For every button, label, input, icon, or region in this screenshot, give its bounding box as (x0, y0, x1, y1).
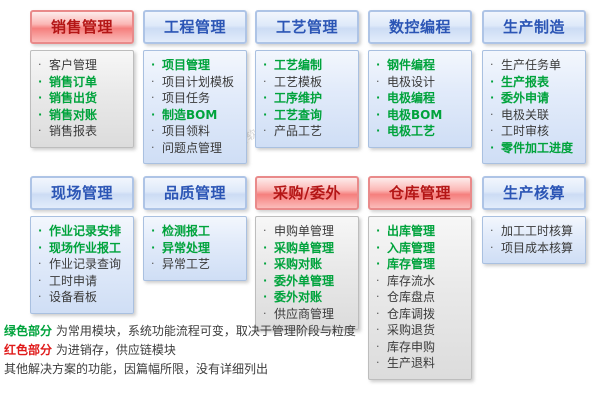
module-header-process-management[interactable]: 工艺管理 (255, 10, 359, 44)
module-item[interactable]: ·制造BOM (148, 107, 244, 124)
bullet-icon: · (38, 74, 42, 91)
module-header-production-manufacturing[interactable]: 生产制造 (482, 10, 586, 44)
module-sales-management: 销售管理·客户管理·销售订单·销售出货·销售对账·销售报表 (30, 10, 134, 148)
module-item[interactable]: ·电极关联 (487, 107, 583, 124)
module-item-label: 产品工艺 (274, 124, 322, 138)
bullet-icon: · (376, 322, 380, 339)
module-item-label: 客户管理 (49, 58, 97, 72)
module-item-label: 申购单管理 (274, 224, 334, 238)
bullet-icon: · (151, 123, 155, 140)
module-map-canvas: 云易云软件 销售管理·客户管理·销售订单·销售出货·销售对账·销售报表工程管理·… (0, 0, 600, 400)
module-item[interactable]: ·项目任务 (148, 90, 244, 107)
bullet-icon: · (490, 123, 494, 140)
bullet-icon: · (376, 57, 380, 74)
module-body-sales-management: ·客户管理·销售订单·销售出货·销售对账·销售报表 (30, 50, 134, 148)
module-item[interactable]: ·委外单管理 (260, 273, 356, 290)
bullet-icon: · (38, 107, 42, 124)
legend-line: 红色部分 为进销存，供应链模块 (4, 341, 374, 360)
bullet-icon: · (376, 306, 380, 323)
module-item-label: 项目成本核算 (501, 241, 573, 255)
bullet-icon: · (151, 74, 155, 91)
module-item[interactable]: ·库存流水 (373, 273, 469, 290)
module-item[interactable]: ·销售报表 (35, 123, 131, 140)
module-item[interactable]: ·作业记录安排 (35, 223, 131, 240)
bullet-icon: · (376, 289, 380, 306)
module-item-label: 检测报工 (162, 224, 210, 238)
bullet-icon: · (38, 289, 42, 306)
module-item[interactable]: ·工序维护 (260, 90, 356, 107)
bullet-icon: · (376, 355, 380, 372)
module-item-label: 项目计划模板 (162, 75, 234, 89)
bullet-icon: · (263, 289, 267, 306)
module-item[interactable]: ·检测报工 (148, 223, 244, 240)
bullet-icon: · (151, 57, 155, 74)
module-item[interactable]: ·委外申请 (487, 90, 583, 107)
module-item[interactable]: ·工艺编制 (260, 57, 356, 74)
bullet-icon: · (376, 339, 380, 356)
module-item-label: 作业记录安排 (49, 224, 121, 238)
module-item[interactable]: ·电极设计 (373, 74, 469, 91)
module-body-production-manufacturing: ·生产任务单·生产报表·委外申请·电极关联·工时审核·零件加工进度 (482, 50, 586, 164)
module-item-label: 电极设计 (387, 75, 435, 89)
module-item-label: 供应商管理 (274, 307, 334, 321)
module-item[interactable]: ·加工工时核算 (487, 223, 583, 240)
module-item-list: ·钢件编程·电极设计·电极编程·电极BOM·电极工艺 (373, 57, 469, 140)
module-item-label: 电极工艺 (387, 124, 435, 138)
bullet-icon: · (263, 74, 267, 91)
module-item-label: 工艺编制 (274, 58, 322, 72)
module-item[interactable]: ·生产任务单 (487, 57, 583, 74)
module-item[interactable]: ·库存申购 (373, 339, 469, 356)
module-item-label: 问题点管理 (162, 141, 222, 155)
bullet-icon: · (151, 256, 155, 273)
module-item-label: 异常处理 (162, 241, 210, 255)
module-item[interactable]: ·钢件编程 (373, 57, 469, 74)
module-item[interactable]: ·工时审核 (487, 123, 583, 140)
module-item-label: 销售对账 (49, 108, 97, 122)
module-item-label: 销售订单 (49, 75, 97, 89)
module-item-label: 库存申购 (387, 340, 435, 354)
bullet-icon: · (263, 223, 267, 240)
module-item-label: 出库管理 (387, 224, 435, 238)
module-item[interactable]: ·供应商管理 (260, 306, 356, 323)
module-item[interactable]: ·采购对账 (260, 256, 356, 273)
module-header-engineering-management[interactable]: 工程管理 (143, 10, 247, 44)
bullet-icon: · (490, 240, 494, 257)
module-body-quality-management: ·检测报工·异常处理·异常工艺 (143, 216, 247, 281)
module-item[interactable]: ·现场作业报工 (35, 240, 131, 257)
legend-text: 其他解决方案的功能，因篇幅所限，没有详细列出 (4, 362, 268, 376)
bullet-icon: · (490, 90, 494, 107)
bullet-icon: · (376, 123, 380, 140)
bullet-icon: · (151, 140, 155, 157)
module-body-engineering-management: ·项目管理·项目计划模板·项目任务·制造BOM·项目领料·问题点管理 (143, 50, 247, 164)
bullet-icon: · (376, 107, 380, 124)
module-item-label: 工序维护 (274, 91, 322, 105)
bullet-icon: · (376, 273, 380, 290)
module-body-cnc-programming: ·钢件编程·电极设计·电极编程·电极BOM·电极工艺 (368, 50, 472, 148)
module-item-label: 入库管理 (387, 241, 435, 255)
module-shopfloor-management: 现场管理·作业记录安排·现场作业报工·作业记录查询·工时申请·设备看板 (30, 176, 134, 314)
module-item[interactable]: ·电极编程 (373, 90, 469, 107)
module-item[interactable]: ·电极工艺 (373, 123, 469, 140)
module-item[interactable]: ·仓库调拨 (373, 306, 469, 323)
module-item[interactable]: ·销售对账 (35, 107, 131, 124)
module-item[interactable]: ·工艺模板 (260, 74, 356, 91)
legend-tag-red: 红色部分 (4, 343, 52, 357)
module-header-sales-management[interactable]: 销售管理 (30, 10, 134, 44)
module-purchasing-outsourcing: 采购/委外·申购单管理·采购单管理·采购对账·委外单管理·委外对账·供应商管理 (255, 176, 359, 330)
module-production-manufacturing: 生产制造·生产任务单·生产报表·委外申请·电极关联·工时审核·零件加工进度 (482, 10, 586, 164)
bullet-icon: · (376, 90, 380, 107)
bullet-icon: · (38, 123, 42, 140)
module-body-production-accounting: ·加工工时核算·项目成本核算 (482, 216, 586, 264)
module-item[interactable]: ·作业记录查询 (35, 256, 131, 273)
bullet-icon: · (376, 240, 380, 257)
module-item-label: 零件加工进度 (501, 141, 573, 155)
module-item[interactable]: ·异常工艺 (148, 256, 244, 273)
legend-text: 为常用模块，系统功能流程可变，取决于管理阶段与粒度 (56, 324, 356, 338)
module-item[interactable]: ·工艺查询 (260, 107, 356, 124)
module-item-list: ·出库管理·入库管理·库存管理·库存流水·仓库盘点·仓库调拨·采购退货·库存申购… (373, 223, 469, 372)
bullet-icon: · (490, 57, 494, 74)
module-item-label: 钢件编程 (387, 58, 435, 72)
module-item-label: 采购退货 (387, 323, 435, 337)
module-item-label: 电极编程 (387, 91, 435, 105)
module-item-label: 制造BOM (162, 108, 217, 122)
module-item[interactable]: ·项目成本核算 (487, 240, 583, 257)
bullet-icon: · (38, 57, 42, 74)
module-item-label: 作业记录查询 (49, 257, 121, 271)
bullet-icon: · (38, 223, 42, 240)
module-item[interactable]: ·销售订单 (35, 74, 131, 91)
module-header-warehouse-management[interactable]: 仓库管理 (368, 176, 472, 210)
module-item-list: ·客户管理·销售订单·销售出货·销售对账·销售报表 (35, 57, 131, 140)
bullet-icon: · (490, 223, 494, 240)
module-item[interactable]: ·入库管理 (373, 240, 469, 257)
module-item-label: 生产报表 (501, 75, 549, 89)
module-item[interactable]: ·项目计划模板 (148, 74, 244, 91)
bullet-icon: · (490, 107, 494, 124)
bullet-icon: · (263, 90, 267, 107)
module-item[interactable]: ·采购单管理 (260, 240, 356, 257)
bullet-icon: · (151, 107, 155, 124)
bullet-icon: · (151, 240, 155, 257)
module-item-label: 仓库调拨 (387, 307, 435, 321)
module-item-label: 库存流水 (387, 274, 435, 288)
module-item-label: 异常工艺 (162, 257, 210, 271)
module-item-label: 生产退料 (387, 356, 435, 370)
bullet-icon: · (151, 223, 155, 240)
bullet-icon: · (263, 273, 267, 290)
module-item-label: 电极关联 (501, 108, 549, 122)
bullet-icon: · (376, 256, 380, 273)
module-item-label: 设备看板 (49, 290, 97, 304)
module-item-label: 仓库盘点 (387, 290, 435, 304)
bullet-icon: · (38, 256, 42, 273)
module-item-list: ·申购单管理·采购单管理·采购对账·委外单管理·委外对账·供应商管理 (260, 223, 356, 322)
module-item[interactable]: ·客户管理 (35, 57, 131, 74)
module-item[interactable]: ·问题点管理 (148, 140, 244, 157)
module-body-shopfloor-management: ·作业记录安排·现场作业报工·作业记录查询·工时申请·设备看板 (30, 216, 134, 314)
module-item-label: 库存管理 (387, 257, 435, 271)
bullet-icon: · (490, 140, 494, 157)
module-item-list: ·检测报工·异常处理·异常工艺 (148, 223, 244, 273)
module-engineering-management: 工程管理·项目管理·项目计划模板·项目任务·制造BOM·项目领料·问题点管理 (143, 10, 247, 164)
module-item[interactable]: ·采购退货 (373, 322, 469, 339)
bullet-icon: · (376, 74, 380, 91)
module-item-label: 工艺查询 (274, 108, 322, 122)
bullet-icon: · (376, 223, 380, 240)
module-header-shopfloor-management[interactable]: 现场管理 (30, 176, 134, 210)
legend: 绿色部分 为常用模块，系统功能流程可变，取决于管理阶段与粒度 红色部分 为进销存… (4, 322, 374, 379)
module-header-production-accounting[interactable]: 生产核算 (482, 176, 586, 210)
module-item[interactable]: ·产品工艺 (260, 123, 356, 140)
module-header-quality-management[interactable]: 品质管理 (143, 176, 247, 210)
bullet-icon: · (263, 240, 267, 257)
module-item-label: 生产任务单 (501, 58, 561, 72)
module-item-label: 现场作业报工 (49, 241, 121, 255)
module-item[interactable]: ·销售出货 (35, 90, 131, 107)
module-item[interactable]: ·异常处理 (148, 240, 244, 257)
bullet-icon: · (263, 256, 267, 273)
module-item-list: ·加工工时核算·项目成本核算 (487, 223, 583, 256)
module-process-management: 工艺管理·工艺编制·工艺模板·工序维护·工艺查询·产品工艺 (255, 10, 359, 148)
module-warehouse-management: 仓库管理·出库管理·入库管理·库存管理·库存流水·仓库盘点·仓库调拨·采购退货·… (368, 176, 472, 380)
legend-text: 为进销存，供应链模块 (56, 343, 176, 357)
module-body-process-management: ·工艺编制·工艺模板·工序维护·工艺查询·产品工艺 (255, 50, 359, 148)
bullet-icon: · (490, 74, 494, 91)
module-item[interactable]: ·生产报表 (487, 74, 583, 91)
bullet-icon: · (38, 90, 42, 107)
module-item[interactable]: ·项目领料 (148, 123, 244, 140)
module-item[interactable]: ·仓库盘点 (373, 289, 469, 306)
module-item-label: 工艺模板 (274, 75, 322, 89)
module-header-purchasing-outsourcing[interactable]: 采购/委外 (255, 176, 359, 210)
bullet-icon: · (263, 123, 267, 140)
bullet-icon: · (263, 57, 267, 74)
module-item-label: 项目领料 (162, 124, 210, 138)
module-item[interactable]: ·零件加工进度 (487, 140, 583, 157)
module-production-accounting: 生产核算·加工工时核算·项目成本核算 (482, 176, 586, 264)
bullet-icon: · (263, 107, 267, 124)
module-item-label: 采购单管理 (274, 241, 334, 255)
bullet-icon: · (38, 273, 42, 290)
legend-tag-green: 绿色部分 (4, 324, 52, 338)
legend-line: 绿色部分 为常用模块，系统功能流程可变，取决于管理阶段与粒度 (4, 322, 374, 341)
module-item[interactable]: ·设备看板 (35, 289, 131, 306)
module-item-label: 采购对账 (274, 257, 322, 271)
module-item-list: ·作业记录安排·现场作业报工·作业记录查询·工时申请·设备看板 (35, 223, 131, 306)
bullet-icon: · (263, 306, 267, 323)
module-item-label: 销售报表 (49, 124, 97, 138)
module-header-cnc-programming[interactable]: 数控编程 (368, 10, 472, 44)
module-item-list: ·项目管理·项目计划模板·项目任务·制造BOM·项目领料·问题点管理 (148, 57, 244, 156)
bullet-icon: · (151, 90, 155, 107)
legend-line: 其他解决方案的功能，因篇幅所限，没有详细列出 (4, 360, 374, 379)
module-item[interactable]: ·项目管理 (148, 57, 244, 74)
module-item-label: 工时审核 (501, 124, 549, 138)
module-item[interactable]: ·申购单管理 (260, 223, 356, 240)
module-item-label: 委外申请 (501, 91, 549, 105)
bullet-icon: · (38, 240, 42, 257)
module-item-label: 委外单管理 (274, 274, 334, 288)
module-item-label: 项目任务 (162, 91, 210, 105)
module-item[interactable]: ·工时申请 (35, 273, 131, 290)
module-item[interactable]: ·出库管理 (373, 223, 469, 240)
module-item-label: 工时申请 (49, 274, 97, 288)
module-item-label: 销售出货 (49, 91, 97, 105)
module-item-label: 项目管理 (162, 58, 210, 72)
module-item[interactable]: ·电极BOM (373, 107, 469, 124)
module-item[interactable]: ·生产退料 (373, 355, 469, 372)
module-item-label: 加工工时核算 (501, 224, 573, 238)
module-item[interactable]: ·库存管理 (373, 256, 469, 273)
module-quality-management: 品质管理·检测报工·异常处理·异常工艺 (143, 176, 247, 281)
module-item-label: 委外对账 (274, 290, 322, 304)
module-cnc-programming: 数控编程·钢件编程·电极设计·电极编程·电极BOM·电极工艺 (368, 10, 472, 148)
module-item-list: ·生产任务单·生产报表·委外申请·电极关联·工时审核·零件加工进度 (487, 57, 583, 156)
module-item-label: 电极BOM (387, 108, 442, 122)
module-item[interactable]: ·委外对账 (260, 289, 356, 306)
module-body-purchasing-outsourcing: ·申购单管理·采购单管理·采购对账·委外单管理·委外对账·供应商管理 (255, 216, 359, 330)
module-item-list: ·工艺编制·工艺模板·工序维护·工艺查询·产品工艺 (260, 57, 356, 140)
module-body-warehouse-management: ·出库管理·入库管理·库存管理·库存流水·仓库盘点·仓库调拨·采购退货·库存申购… (368, 216, 472, 380)
